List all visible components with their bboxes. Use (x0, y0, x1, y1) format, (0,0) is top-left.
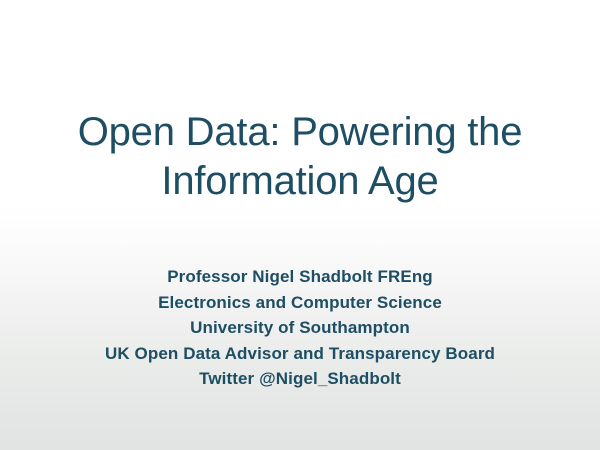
subtitle-twitter-handle: Twitter @Nigel_Shadbolt (0, 366, 600, 392)
slide-title-line-2: Information Age (0, 157, 600, 206)
slide-title: Open Data: Powering the Information Age (0, 108, 600, 206)
slide-subtitle: Professor Nigel Shadbolt FREng Electroni… (0, 264, 600, 392)
presentation-slide: Open Data: Powering the Information Age … (0, 0, 600, 450)
subtitle-department: Electronics and Computer Science (0, 290, 600, 316)
subtitle-institution: University of Southampton (0, 315, 600, 341)
subtitle-role: UK Open Data Advisor and Transparency Bo… (0, 341, 600, 367)
slide-title-line-1: Open Data: Powering the (0, 108, 600, 157)
subtitle-presenter-name: Professor Nigel Shadbolt FREng (0, 264, 600, 290)
